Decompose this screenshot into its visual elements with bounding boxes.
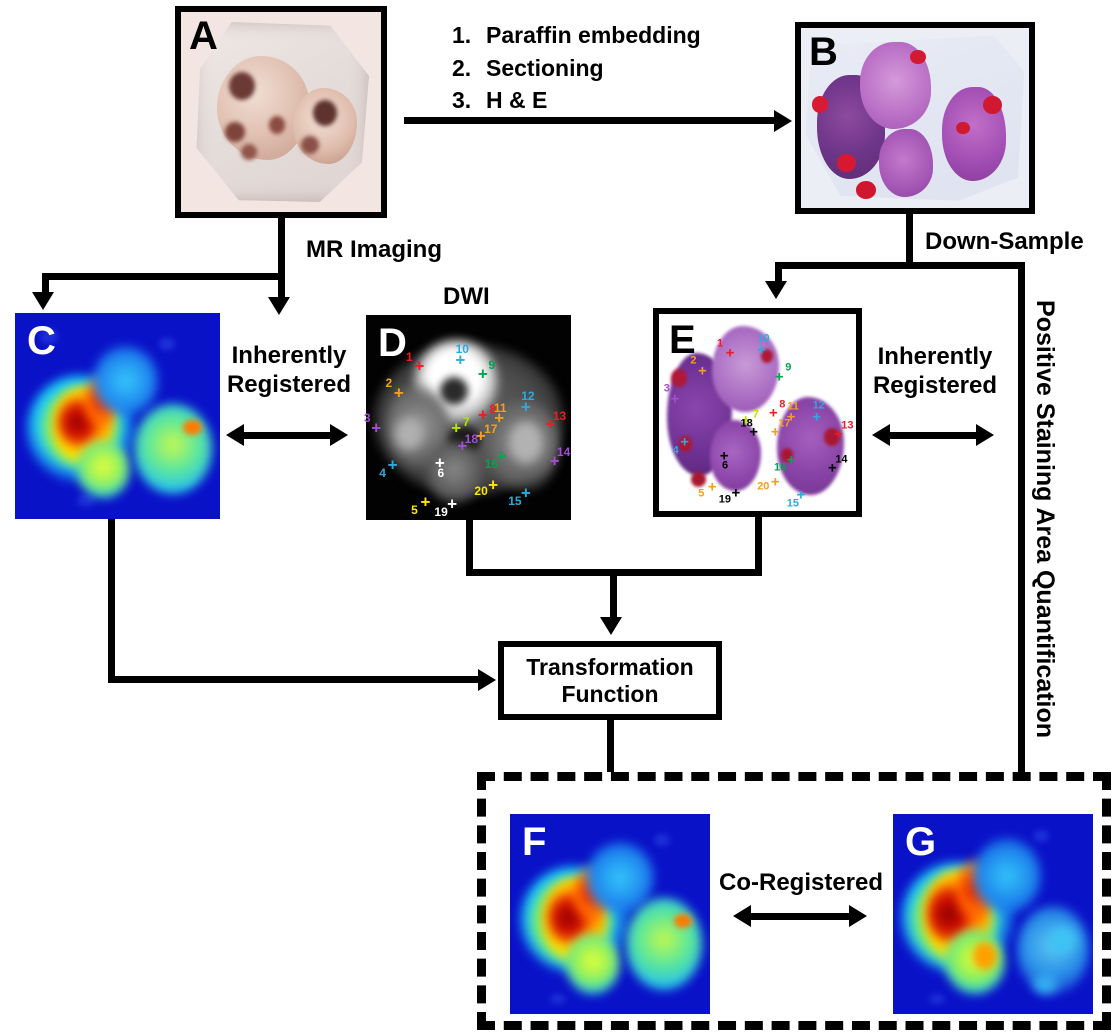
landmark-number-16: 16 (774, 462, 786, 473)
landmark-number-8: 8 (779, 399, 785, 410)
landmark-number-10: 10 (757, 333, 769, 344)
landmark-overlay-histology: +1+2+3+4+5+6+7+8+9+10+11+12+13+14+15+16+… (665, 320, 862, 517)
landmark-cross-2: + (394, 384, 404, 401)
bidir-arrow-left-head-west (226, 424, 244, 446)
landmark-number-17: 17 (778, 419, 790, 430)
panel-label-a: A (189, 16, 218, 56)
processing-steps-list: 1.Paraffin embedding 2.Sectioning 3.H & … (452, 19, 701, 117)
step-number: 2. (452, 52, 486, 85)
landmark-cross-1: + (726, 346, 735, 361)
landmark-cross-16: + (787, 452, 796, 467)
arrow-to-panel-d (268, 297, 290, 315)
landmark-cross-9: + (478, 366, 488, 383)
landmark-number-1: 1 (406, 351, 413, 363)
landmark-number-6: 6 (437, 467, 444, 479)
landmark-number-2: 2 (385, 377, 392, 389)
landmark-cross-5: + (420, 493, 430, 510)
arrow-to-transformation-box (600, 617, 622, 635)
bidir-arrow-right-head-west (872, 424, 890, 446)
panel-c-mr-map: C (15, 313, 220, 519)
landmark-cross-3: + (670, 391, 679, 406)
arrow-a-to-b-head (774, 110, 792, 132)
landmark-number-12: 12 (521, 390, 534, 402)
landmark-number-7: 7 (463, 416, 470, 428)
panel-b-he-histology: B (795, 22, 1035, 214)
landmark-cross-3: + (371, 419, 381, 436)
panel-label-c: C (27, 321, 56, 361)
figure-canvas: A 1.Paraffin embedding 2.Sectioning 3.H … (0, 0, 1117, 1034)
landmark-number-5: 5 (698, 489, 704, 500)
step-text: Sectioning (486, 55, 604, 81)
landmark-number-19: 19 (434, 506, 447, 518)
landmark-number-10: 10 (456, 343, 469, 355)
landmark-cross-2: + (698, 364, 707, 379)
panel-a-specimen-photo: A (175, 6, 387, 218)
step-text: H & E (486, 87, 547, 113)
bidir-arrow-left-head-east (330, 424, 348, 446)
landmark-cross-10: + (757, 342, 766, 357)
landmark-number-4: 4 (379, 467, 386, 479)
landmark-cross-19: + (732, 486, 741, 501)
landmark-cross-15: + (521, 485, 531, 502)
step-number: 1. (452, 19, 486, 52)
landmark-number-13: 13 (553, 410, 566, 422)
arrow-to-panel-e (765, 281, 787, 299)
landmark-number-14: 14 (835, 454, 847, 465)
landmark-number-18: 18 (741, 419, 753, 430)
line-downsample-branch (775, 262, 1025, 269)
landmark-cross-9: + (775, 370, 784, 385)
landmark-number-15: 15 (508, 495, 521, 507)
landmark-number-13: 13 (841, 421, 853, 432)
line-positive-staining-down (1018, 262, 1025, 808)
bidir-arrow-right-head-east (976, 424, 994, 446)
landmark-cross-4: + (388, 456, 398, 473)
landmark-number-5: 5 (411, 504, 418, 516)
co-registered-label: Co-Registered (719, 869, 883, 897)
landmark-number-4: 4 (673, 446, 679, 457)
landmark-cross-19: + (447, 495, 457, 512)
line-c-down (108, 519, 115, 683)
landmark-cross-20: + (488, 477, 498, 494)
landmark-cross-7: + (451, 419, 461, 436)
inherently-registered-left: Inherently Registered (214, 342, 364, 400)
inherently-registered-right: Inherently Registered (860, 343, 1010, 401)
down-sample-label: Down-Sample (925, 228, 1084, 256)
line-mr-branch (42, 273, 285, 280)
landmark-number-9: 9 (785, 363, 791, 374)
landmark-number-9: 9 (489, 359, 496, 371)
landmark-number-17: 17 (484, 423, 497, 435)
landmark-number-19: 19 (719, 495, 731, 506)
processing-step: 3.H & E (452, 84, 701, 117)
panel-label-g: G (905, 822, 936, 862)
panel-e-downsampled-histology: E +1+2+3+4+5+6+7+8+9+10+11+12+13+14+15+1… (653, 308, 862, 517)
landmark-number-14: 14 (557, 446, 570, 458)
arrow-a-to-b-line (404, 117, 774, 124)
arrow-to-panel-c (32, 292, 54, 310)
landmark-cross-8: + (769, 405, 778, 420)
line-d-down (466, 520, 473, 576)
panel-label-f: F (522, 822, 546, 862)
landmark-number-20: 20 (474, 485, 487, 497)
landmark-number-11: 11 (494, 402, 507, 414)
landmark-number-11: 11 (787, 401, 799, 412)
step-text: Paraffin embedding (486, 22, 701, 48)
landmark-number-16: 16 (485, 458, 498, 470)
landmark-cross-4: + (680, 435, 689, 450)
processing-step: 1.Paraffin embedding (452, 19, 701, 52)
panel-d-dwi: D +1+2+3+4+5+6+7+8+9+10+11+12+13+14+15+1… (366, 315, 571, 520)
panel-label-b: B (809, 32, 838, 72)
bidir-arrow-bottom-head-east (849, 905, 867, 927)
landmark-number-20: 20 (757, 481, 769, 492)
bidir-arrow-left-line (242, 432, 334, 439)
line-b-down (906, 214, 913, 266)
landmark-cross-1: + (414, 358, 424, 375)
panel-f-transformed-mr-map: F (510, 814, 710, 1014)
landmark-cross-12: + (812, 409, 821, 424)
bidir-arrow-right-line (888, 432, 980, 439)
positive-staining-label: Positive Staining Area Quantification (1030, 300, 1059, 738)
landmark-cross-20: + (771, 474, 780, 489)
mr-imaging-label: MR Imaging (306, 236, 442, 264)
line-a-down (278, 218, 285, 280)
transformation-function-box[interactable]: Transformation Function (498, 641, 722, 720)
landmark-number-18: 18 (465, 433, 478, 445)
bidir-arrow-bottom-head-west (733, 905, 751, 927)
processing-step: 2.Sectioning (452, 52, 701, 85)
arrow-c-to-transformation-box (478, 669, 496, 691)
landmark-number-3: 3 (664, 383, 670, 394)
landmark-number-6: 6 (722, 460, 728, 471)
landmark-overlay-dwi: +1+2+3+4+5+6+7+8+9+10+11+12+13+14+15+16+… (366, 315, 571, 520)
line-e-down (755, 517, 762, 576)
landmark-number-3: 3 (364, 412, 371, 424)
landmark-number-15: 15 (787, 499, 799, 510)
landmark-number-2: 2 (690, 356, 696, 367)
landmark-number-12: 12 (813, 400, 825, 411)
bidir-arrow-bottom-line (749, 913, 853, 920)
step-number: 3. (452, 84, 486, 117)
line-merge-down (610, 569, 617, 621)
landmark-number-1: 1 (717, 339, 723, 350)
dwi-label: DWI (443, 283, 490, 311)
landmark-number-7: 7 (753, 410, 759, 421)
panel-g-coregistered-map: G (893, 814, 1093, 1014)
line-c-to-box (108, 676, 480, 683)
landmark-cross-5: + (708, 480, 717, 495)
